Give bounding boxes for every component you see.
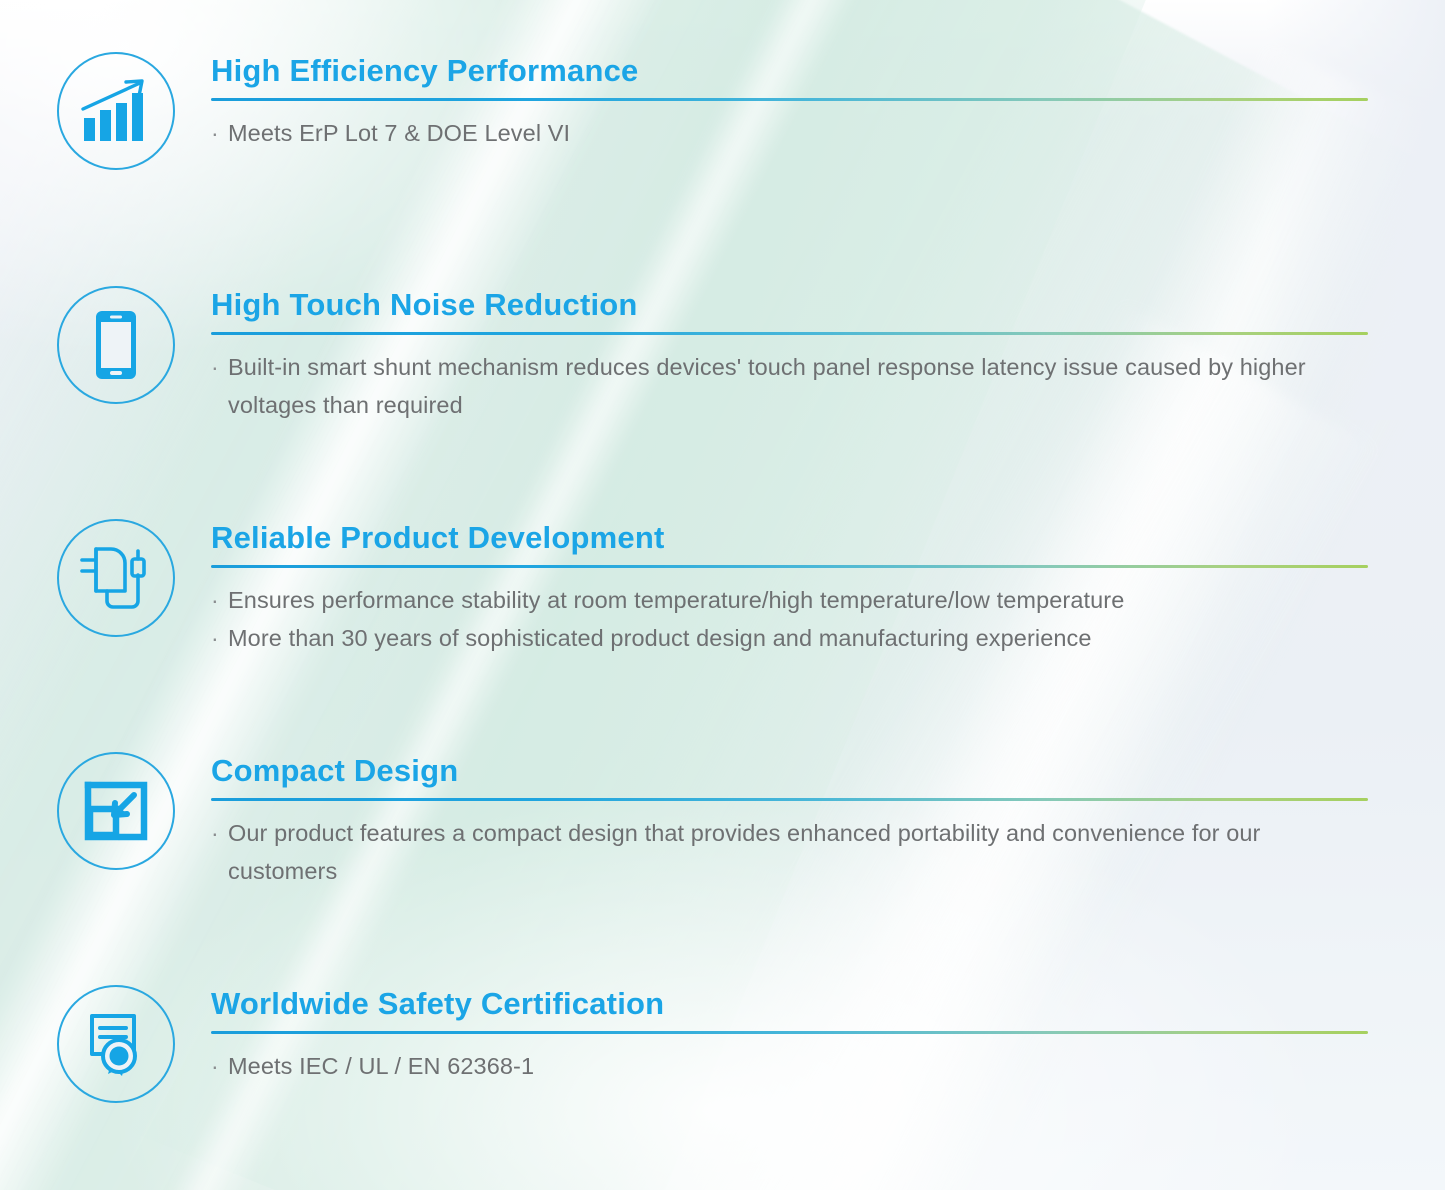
feature-icon-container — [57, 519, 177, 639]
feature-body: Worldwide Safety Certification · Meets I… — [211, 985, 1371, 1085]
feature-bullets: · Ensures performance stability at room … — [211, 581, 1371, 657]
bullet-marker: · — [211, 348, 228, 386]
bullet-text: Meets ErP Lot 7 & DOE Level VI — [228, 114, 1371, 152]
feature-icon-container — [57, 752, 177, 872]
smartphone-icon — [57, 286, 175, 404]
feature-highlights-page: High Efficiency Performance · Meets ErP … — [0, 0, 1445, 1190]
bullet-item: · Our product features a compact design … — [211, 814, 1371, 890]
feature-divider — [211, 98, 1368, 101]
feature-icon-container — [57, 985, 177, 1105]
feature-divider — [211, 798, 1368, 801]
bullet-marker: · — [211, 814, 228, 852]
feature-title: Worldwide Safety Certification — [211, 985, 1371, 1023]
feature-title: Compact Design — [211, 752, 1371, 790]
bullet-item: · More than 30 years of sophisticated pr… — [211, 619, 1371, 657]
bullet-marker: · — [211, 619, 228, 657]
bullet-item: · Meets IEC / UL / EN 62368-1 — [211, 1047, 1371, 1085]
bullet-text: Our product features a compact design th… — [228, 814, 1371, 890]
bullet-text: Ensures performance stability at room te… — [228, 581, 1371, 619]
feature-bullets: · Meets ErP Lot 7 & DOE Level VI — [211, 114, 1371, 152]
feature-bullets: · Built-in smart shunt mechanism reduces… — [211, 348, 1371, 424]
bullet-text: More than 30 years of sophisticated prod… — [228, 619, 1371, 657]
feature-icon-container — [57, 286, 177, 406]
bullet-item: · Ensures performance stability at room … — [211, 581, 1371, 619]
feature-bullets: · Meets IEC / UL / EN 62368-1 — [211, 1047, 1371, 1085]
compact-resize-icon — [57, 752, 175, 870]
feature-divider — [211, 1031, 1368, 1034]
feature-divider — [211, 565, 1368, 568]
power-adapter-icon — [57, 519, 175, 637]
bullet-marker: · — [211, 1047, 228, 1085]
bullet-item: · Meets ErP Lot 7 & DOE Level VI — [211, 114, 1371, 152]
feature-body: Compact Design · Our product features a … — [211, 752, 1371, 890]
bullet-item: · Built-in smart shunt mechanism reduces… — [211, 348, 1371, 424]
bar-chart-growth-icon — [57, 52, 175, 170]
feature-divider — [211, 332, 1368, 335]
bullet-marker: · — [211, 581, 228, 619]
bullet-text: Built-in smart shunt mechanism reduces d… — [228, 348, 1371, 424]
feature-body: High Touch Noise Reduction · Built-in sm… — [211, 286, 1371, 424]
bullet-text: Meets IEC / UL / EN 62368-1 — [228, 1047, 1371, 1085]
feature-title: Reliable Product Development — [211, 519, 1371, 557]
feature-body: High Efficiency Performance · Meets ErP … — [211, 52, 1371, 152]
feature-icon-container — [57, 52, 177, 172]
feature-body: Reliable Product Development · Ensures p… — [211, 519, 1371, 657]
feature-title: High Touch Noise Reduction — [211, 286, 1371, 324]
feature-title: High Efficiency Performance — [211, 52, 1371, 90]
bullet-marker: · — [211, 114, 228, 152]
certificate-award-icon — [57, 985, 175, 1103]
feature-bullets: · Our product features a compact design … — [211, 814, 1371, 890]
